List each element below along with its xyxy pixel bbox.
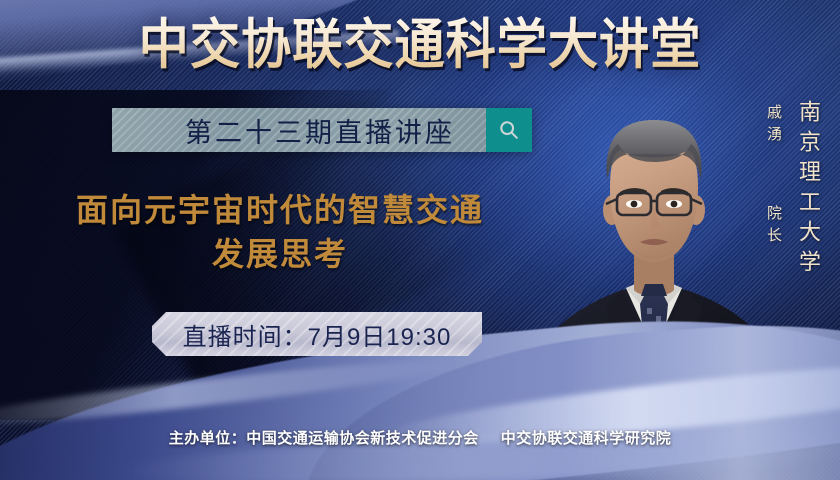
speaker-name: 戚湧	[763, 104, 784, 148]
footer-organizer-2: 中交协联交通科学研究院	[501, 430, 672, 447]
speaker-university: 南京理工大学	[792, 100, 824, 280]
speaker-role: 院长	[763, 205, 784, 249]
background-silk-ribbons	[0, 280, 840, 480]
lecture-title-line-1: 面向元宇宙时代的智慧交通	[76, 192, 484, 228]
broadcast-time-label: 直播时间：7月9日19:30	[183, 317, 452, 352]
lecture-title-line-2: 发展思考	[40, 232, 520, 276]
episode-label: 第二十三期直播讲座	[143, 111, 455, 150]
footer-prefix: 主办单位：	[169, 430, 247, 447]
broadcast-time-badge: 直播时间：7月9日19:30	[152, 312, 482, 356]
lecture-title: 面向元宇宙时代的智慧交通 发展思考	[40, 188, 520, 276]
livestream-poster: 中交协联交通科学大讲堂 第二十三期直播讲座 面向元宇宙时代的智慧交通 发展思考 …	[0, 0, 840, 480]
footer-organizers: 主办单位：中国交通运输协会新技术促进分会中交协联交通科学研究院	[0, 427, 840, 448]
search-icon	[498, 119, 520, 141]
search-button[interactable]	[486, 108, 532, 152]
episode-bar: 第二十三期直播讲座	[112, 108, 532, 152]
episode-bar-fill: 第二十三期直播讲座	[112, 108, 486, 152]
footer-organizer-1: 中国交通运输协会新技术促进分会	[246, 430, 479, 447]
page-title: 中交协联交通科学大讲堂	[29, 16, 810, 74]
